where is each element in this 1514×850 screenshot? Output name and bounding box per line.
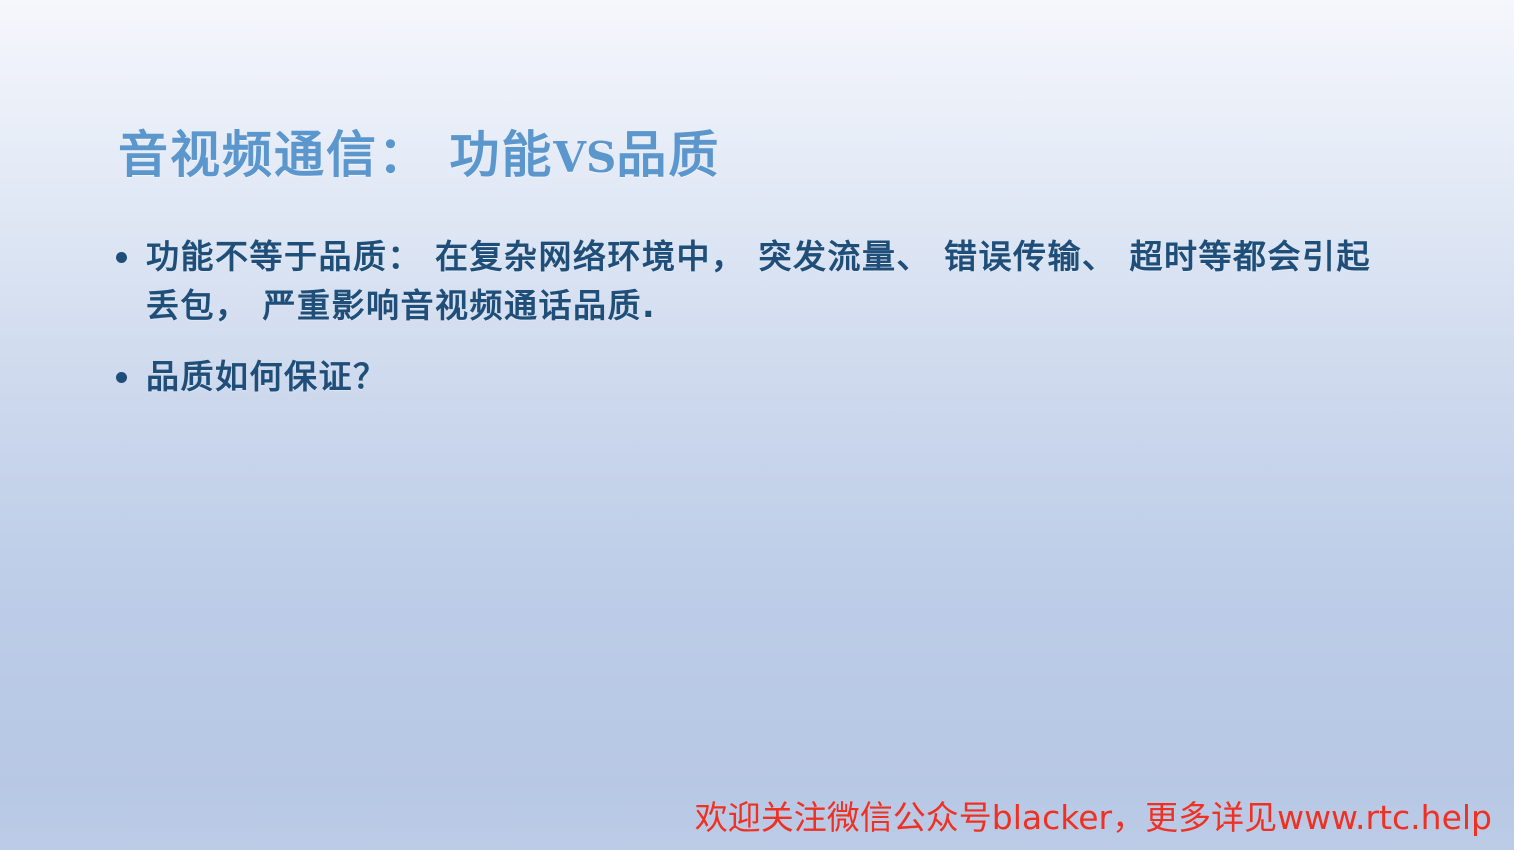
bullet-text: 功能不等于品质： 在复杂网络环境中， 突发流量、 错误传输、 超时等都会引起丢包… <box>146 232 1400 330</box>
slide-title-suffix: 品质 <box>616 126 720 184</box>
bullet-dot-icon <box>116 372 127 383</box>
slide-title: 音视频通信： 功能VS品质 <box>118 126 1418 185</box>
slide-bullet-list: 功能不等于品质： 在复杂网络环境中， 突发流量、 错误传输、 超时等都会引起丢包… <box>110 232 1400 401</box>
bullet-dot-icon <box>116 252 127 263</box>
presentation-slide: 音视频通信： 功能VS品质 功能不等于品质： 在复杂网络环境中， 突发流量、 错… <box>0 0 1514 850</box>
list-item: 品质如何保证？ <box>110 352 1400 401</box>
slide-title-vs: VS <box>553 133 616 182</box>
list-item: 功能不等于品质： 在复杂网络环境中， 突发流量、 错误传输、 超时等都会引起丢包… <box>110 232 1400 330</box>
footer-promo-note: 欢迎关注微信公众号blacker，更多详见www.rtc.help <box>0 798 1492 838</box>
bullet-text: 品质如何保证？ <box>146 352 1400 401</box>
slide-title-prefix: 音视频通信： 功能 <box>118 126 553 184</box>
